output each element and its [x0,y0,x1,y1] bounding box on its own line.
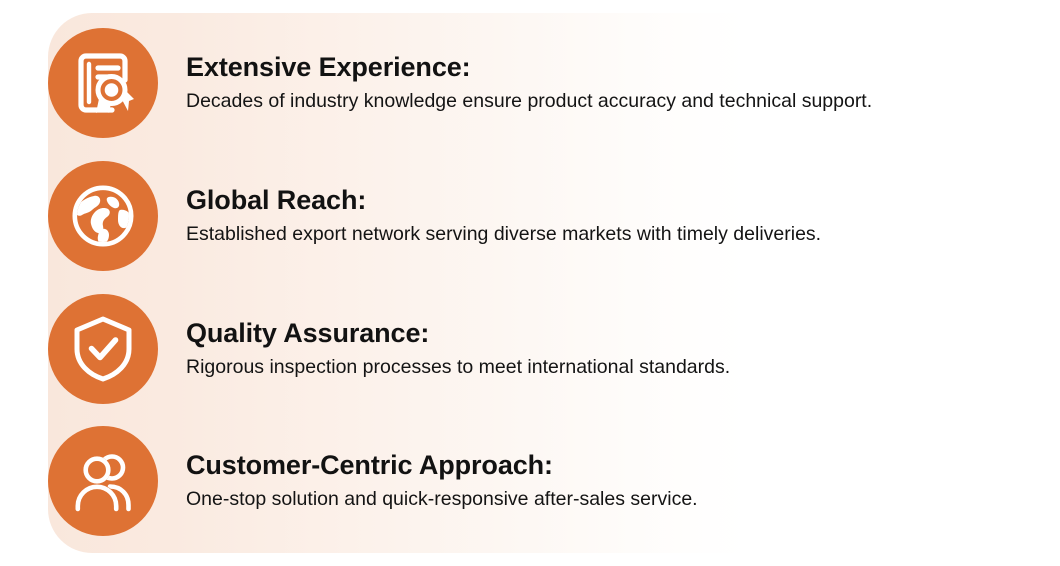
shield-check-icon [72,315,134,383]
feature-title: Global Reach: [186,185,1036,217]
certificate-award-icon-badge [48,28,158,138]
feature-text-block: Customer-Centric Approach: One-stop solu… [186,415,1036,548]
feature-title: Extensive Experience: [186,52,1036,84]
feature-description: Rigorous inspection processes to meet in… [186,355,1036,380]
globe-icon-badge [48,161,158,271]
feature-item-extensive-experience: Extensive Experience: Decades of industr… [0,17,1060,150]
feature-item-global-reach: Global Reach: Established export network… [0,150,1060,283]
users-icon-badge [48,426,158,536]
feature-title: Quality Assurance: [186,318,1036,350]
feature-text-block: Global Reach: Established export network… [186,150,1036,283]
feature-list-graphic: Extensive Experience: Decades of industr… [0,0,1060,566]
feature-description: One-stop solution and quick-responsive a… [186,487,1036,512]
certificate-award-icon [72,50,134,116]
feature-description: Decades of industry knowledge ensure pro… [186,89,1036,114]
feature-text-block: Extensive Experience: Decades of industr… [186,17,1036,150]
feature-title: Customer-Centric Approach: [186,450,1036,482]
shield-check-icon-badge [48,294,158,404]
feature-list: Extensive Experience: Decades of industr… [0,0,1060,566]
feature-text-block: Quality Assurance: Rigorous inspection p… [186,283,1036,416]
users-icon [71,449,135,513]
feature-item-customer-centric-approach: Customer-Centric Approach: One-stop solu… [0,415,1060,548]
globe-icon [71,184,135,248]
feature-item-quality-assurance: Quality Assurance: Rigorous inspection p… [0,283,1060,416]
feature-description: Established export network serving diver… [186,222,1036,247]
